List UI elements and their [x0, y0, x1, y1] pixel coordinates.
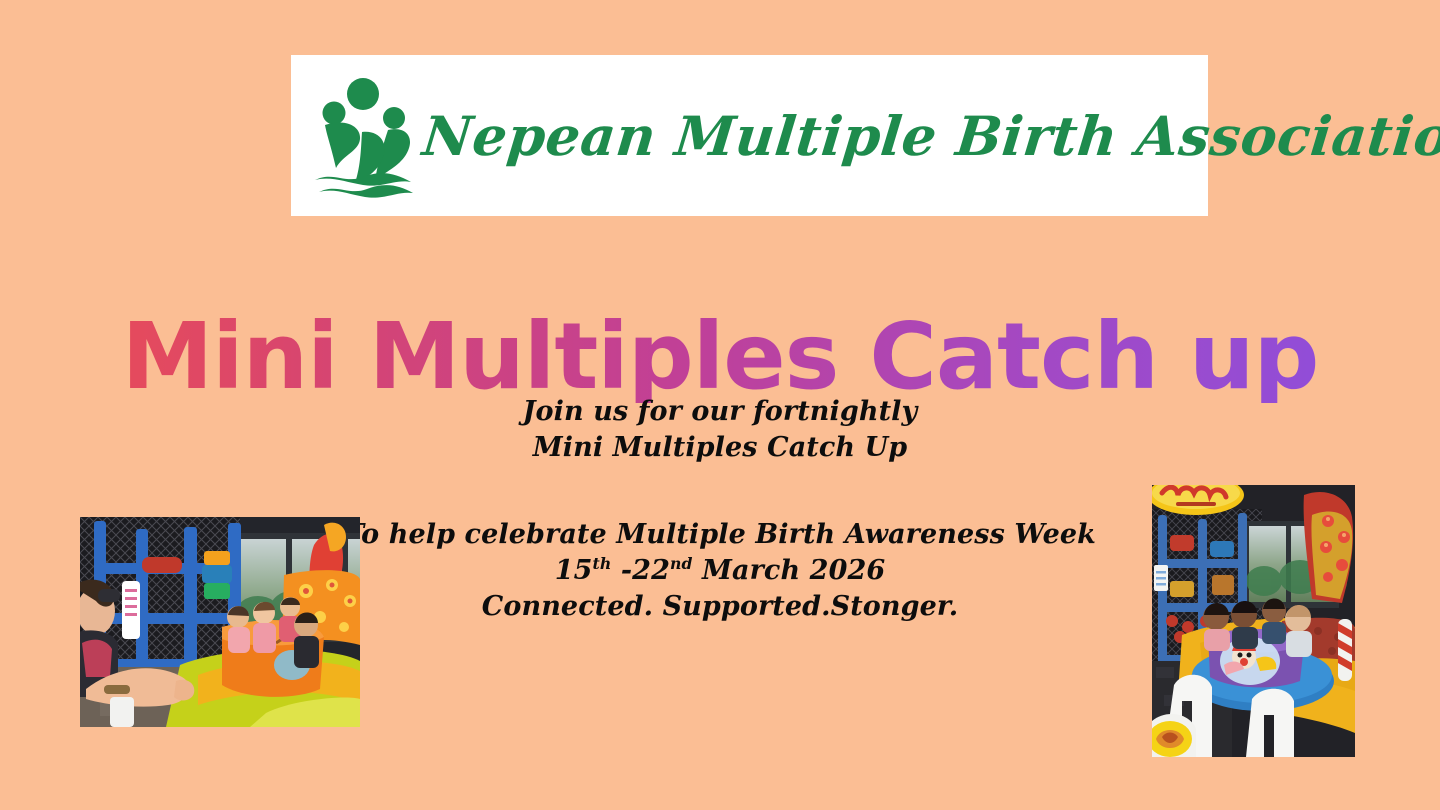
poster-canvas: Nepean Multiple Birth Association Mini M…	[0, 0, 1440, 810]
date-start-day: 15	[555, 555, 593, 586]
logo-organisation-name: Nepean Multiple Birth Association	[420, 109, 1440, 163]
logo-banner: Nepean Multiple Birth Association	[291, 55, 1208, 216]
page-title: Mini Multiples Catch up	[0, 310, 1440, 404]
intro-line-2: Mini Multiples Catch Up	[0, 430, 1440, 466]
intro-text-block: Join us for our fortnightly Mini Multipl…	[0, 394, 1440, 466]
date-month-year: March 2026	[693, 555, 886, 586]
intro-line-1: Join us for our fortnightly	[0, 394, 1440, 430]
date-end-ordinal: nd	[670, 554, 693, 573]
date-start-ordinal: th	[593, 554, 612, 573]
photo-right-teacup-ride	[1152, 485, 1355, 757]
date-separator: -22	[611, 555, 670, 586]
photo-left-teacup-ride	[80, 517, 360, 727]
multiple-birth-family-icon-left	[305, 72, 423, 200]
